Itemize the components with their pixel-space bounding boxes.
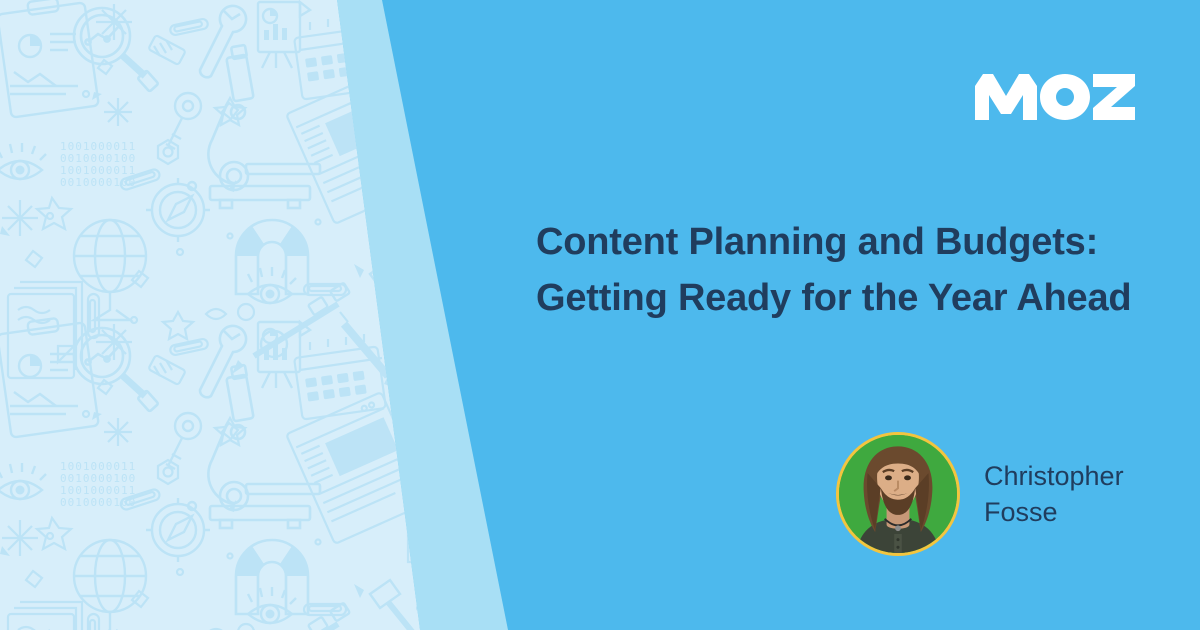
moz-logo-mark xyxy=(973,72,1137,122)
author-block: Christopher Fosse xyxy=(836,432,1124,556)
moz-logo xyxy=(973,72,1137,122)
avatar-portrait xyxy=(839,435,957,553)
social-share-card: 1001000011 0010000100 1001000011 0010000… xyxy=(0,0,1200,630)
title-line-1: Content Planning and Budgets: xyxy=(536,214,1156,270)
avatar xyxy=(836,432,960,556)
title-line-2: Getting Ready for the Year Ahead xyxy=(536,270,1156,326)
page-title: Content Planning and Budgets: Getting Re… xyxy=(536,214,1156,326)
author-name: Christopher Fosse xyxy=(984,458,1124,530)
